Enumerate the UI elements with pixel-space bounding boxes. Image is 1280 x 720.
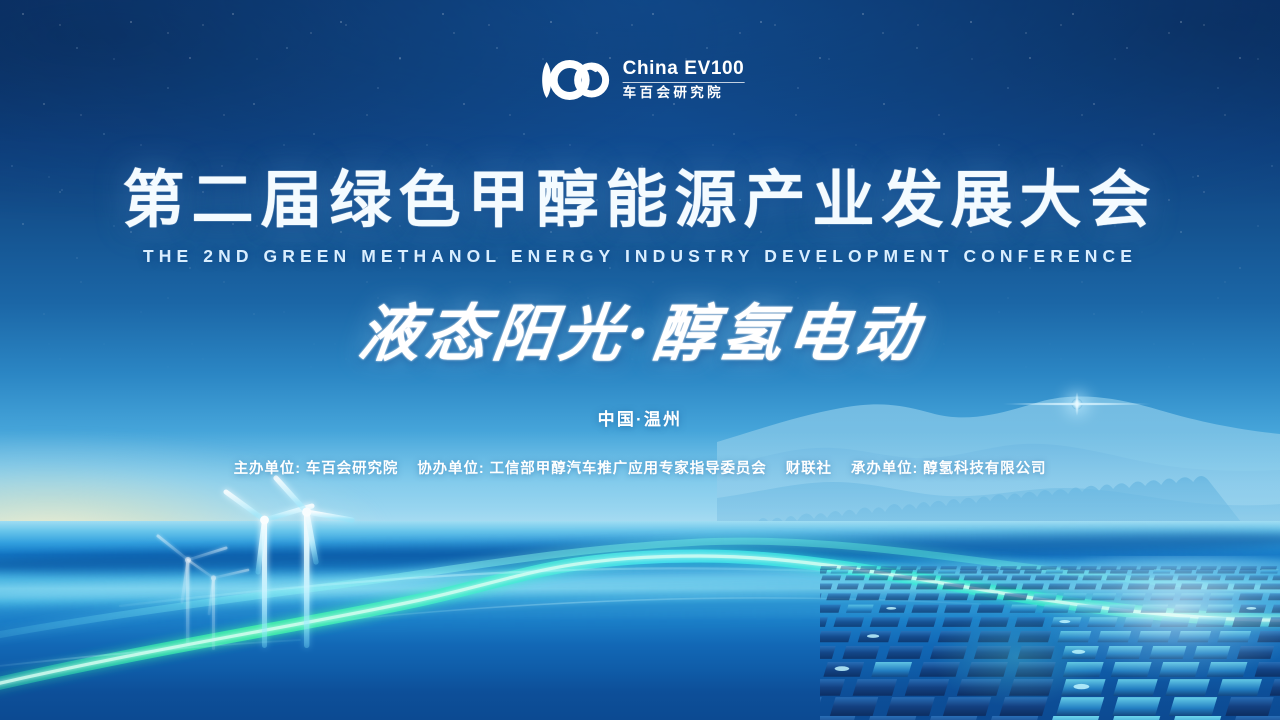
china-ev100-100-logo-icon bbox=[536, 58, 612, 102]
conference-poster: China EV100 车百会研究院 第二届绿色甲醇能源产业发展大会 THE 2… bbox=[0, 0, 1280, 720]
page-title-english: THE 2ND GREEN METHANOL ENERGY INDUSTRY D… bbox=[0, 246, 1280, 267]
event-location: 中国·温州 bbox=[0, 405, 1280, 430]
logo-english-text: China EV100 bbox=[623, 59, 745, 79]
organizer-co-host: 协办单位: 工信部甲醇汽车推广应用专家指导委员会 bbox=[417, 457, 766, 478]
solar-panel-array bbox=[820, 556, 1280, 720]
organizer-organizer: 承办单位: 醇氢科技有限公司 bbox=[851, 457, 1046, 478]
headline-block: 第二届绿色甲醇能源产业发展大会 THE 2ND GREEN METHANOL E… bbox=[0, 168, 1280, 267]
page-title-chinese: 第二届绿色甲醇能源产业发展大会 bbox=[0, 168, 1280, 234]
organizer-media: 财联社 bbox=[786, 457, 832, 478]
logo-divider bbox=[623, 82, 745, 83]
slogan-calligraphy: 液态阳光·醇氢电动 bbox=[355, 300, 926, 368]
brand-logo[interactable]: China EV100 车百会研究院 bbox=[536, 58, 745, 102]
location-block: 中国·温州 bbox=[0, 405, 1280, 430]
organizer-host: 主办单位: 车百会研究院 bbox=[234, 457, 399, 478]
logo-chinese-text: 车百会研究院 bbox=[623, 86, 724, 100]
wind-turbine-large-2 bbox=[276, 478, 352, 648]
wind-turbine-small-2 bbox=[188, 560, 248, 650]
slogan-block: 液态阳光·醇氢电动 bbox=[0, 300, 1280, 368]
wind-turbine-small-1 bbox=[158, 536, 226, 644]
wind-turbine-large-1 bbox=[226, 492, 312, 648]
organizer-list: 主办单位: 车百会研究院 协办单位: 工信部甲醇汽车推广应用专家指导委员会 财联… bbox=[0, 457, 1280, 478]
